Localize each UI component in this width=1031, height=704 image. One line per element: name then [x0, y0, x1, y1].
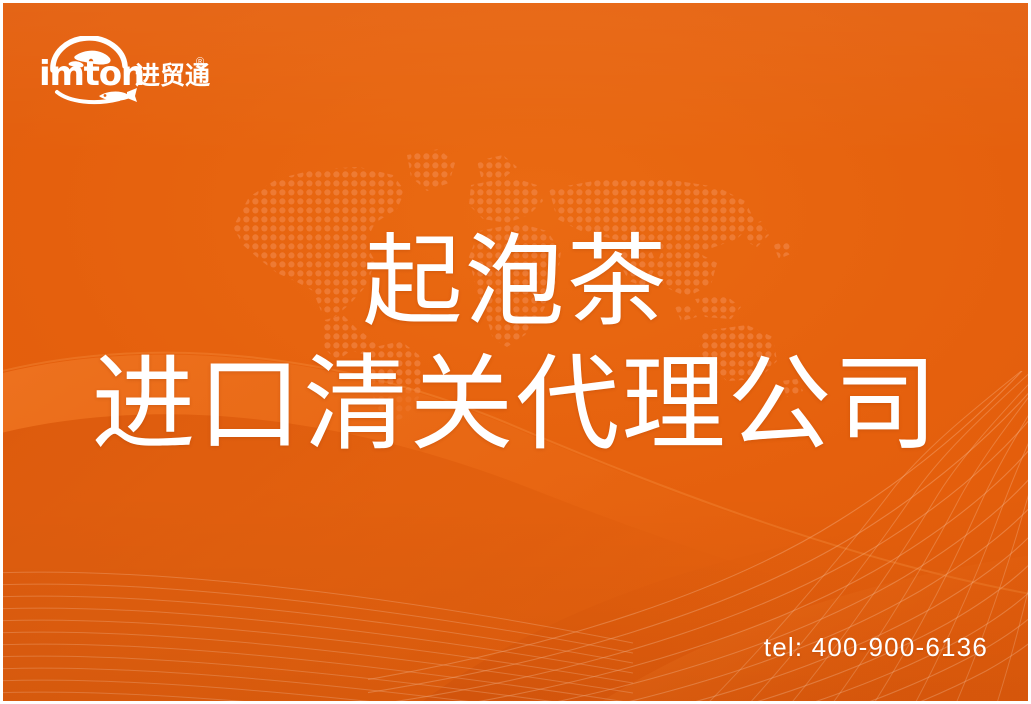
logo-wordmark: imton 进贸通 — [39, 54, 219, 94]
brand-logo[interactable]: imton 进贸通 ® — [39, 36, 219, 106]
promotional-banner: imton 进贸通 ® 起泡茶 进口清关代理公司 tel: 400-900-61… — [0, 0, 1031, 704]
contact-phone[interactable]: tel: 400-900-6136 — [764, 632, 988, 663]
headline: 起泡茶 进口清关代理公司 — [3, 225, 1028, 464]
headline-line-1: 起泡茶 — [3, 225, 1028, 338]
bottom-hairlines-decoration — [0, 557, 633, 704]
registered-trademark-mark: ® — [196, 57, 204, 68]
headline-line-2: 进口清关代理公司 — [3, 346, 1028, 464]
logo-wordmark-text: imton — [39, 54, 144, 94]
